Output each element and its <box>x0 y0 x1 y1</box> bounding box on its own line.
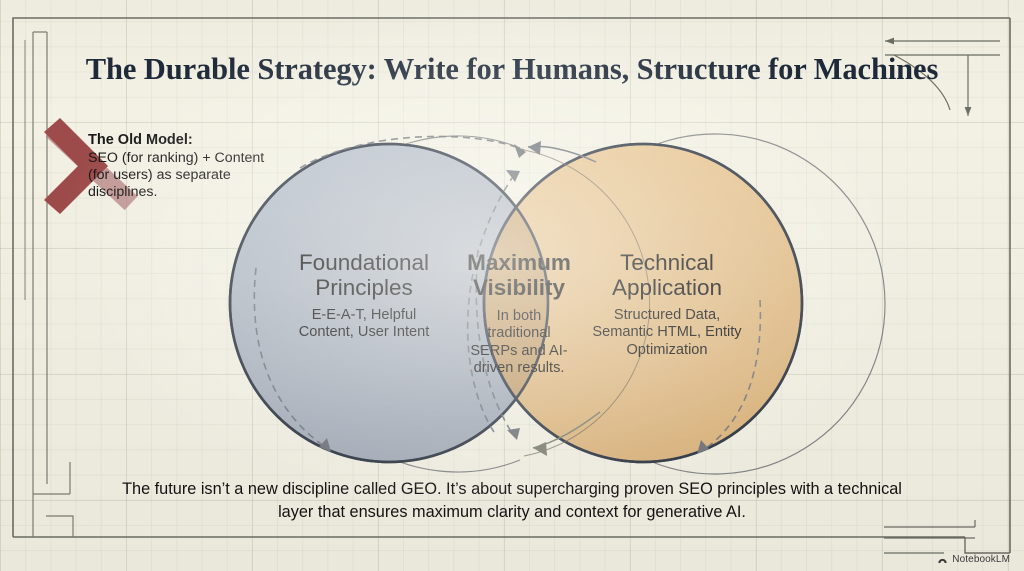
venn-left-body: E-E-A-T, Helpful Content, User Intent <box>288 307 440 342</box>
venn-right-title-line1: Technical <box>592 250 742 275</box>
venn-left-title-line2: Principles <box>288 275 440 300</box>
notebooklm-icon <box>937 554 948 565</box>
venn-right-body: Structured Data, Semantic HTML, Entity O… <box>592 307 742 360</box>
venn-center-body: In both traditional SERPs and AI-driven … <box>464 308 574 378</box>
watermark-label: NotebookLM <box>952 554 1010 565</box>
venn-center-title-line1: Maximum <box>464 250 574 275</box>
venn-center-title-line2: Visibility <box>464 275 574 300</box>
venn-label-right: Technical Application Structured Data, S… <box>592 250 742 359</box>
venn-left-title-line1: Foundational <box>288 250 440 275</box>
notebooklm-watermark: NotebookLM <box>937 554 1010 565</box>
venn-label-center: Maximum Visibility In both traditional S… <box>464 250 574 378</box>
venn-label-left: Foundational Principles E-E-A-T, Helpful… <box>288 250 440 342</box>
venn-right-title-line2: Application <box>592 275 742 300</box>
caption-line-1: The future isn’t a new discipline called… <box>122 480 786 498</box>
caption: The future isn’t a new discipline called… <box>112 478 912 524</box>
